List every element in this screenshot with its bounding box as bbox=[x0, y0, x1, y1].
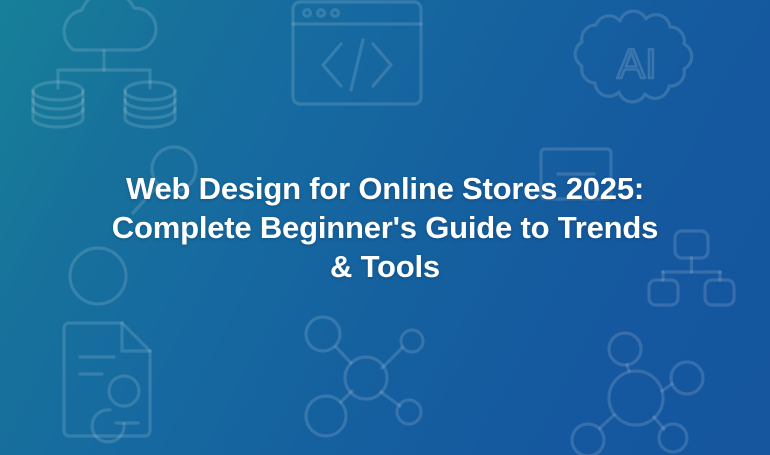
hero-banner: AI bbox=[0, 0, 770, 455]
hero-title-container: Web Design for Online Stores 2025: Compl… bbox=[0, 0, 770, 455]
page-title: Web Design for Online Stores 2025: Compl… bbox=[105, 169, 665, 286]
